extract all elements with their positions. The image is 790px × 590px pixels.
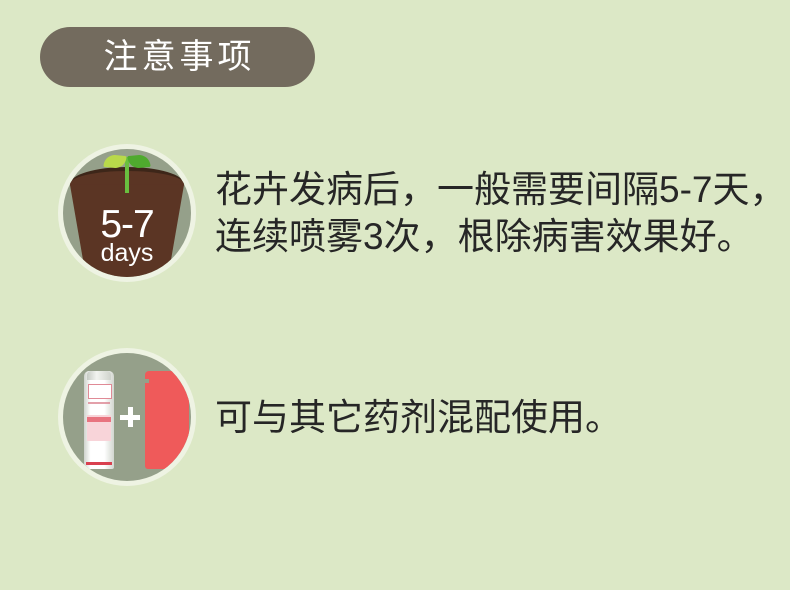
- white-bottle-base-stripe: [86, 462, 112, 465]
- notice-text-2: 可与其它药剂混配使用。: [215, 399, 622, 436]
- mix-bottles-icon: [58, 348, 196, 486]
- notice-item-1: 5-7 days 花卉发病后，一般需要间隔5-7天， 连续喷雾3次，根除病害效果…: [58, 144, 786, 282]
- white-bottle-label-line: [88, 402, 110, 404]
- white-bottle-label-block: [87, 415, 111, 441]
- white-bottle-label-band: [87, 417, 111, 422]
- section-header-pill: 注意事项: [40, 27, 315, 87]
- white-bottle-label-box: [88, 384, 112, 399]
- red-bottle-neck-right: [185, 379, 189, 383]
- white-bottle-cap: [87, 371, 111, 380]
- plant-pot-icon-background: 5-7 days: [63, 149, 191, 277]
- duration-unit: days: [63, 241, 191, 266]
- bottles-group: [63, 353, 191, 481]
- notice-item-2: 可与其它药剂混配使用。: [58, 348, 622, 486]
- red-bottle-neck-left: [145, 379, 149, 383]
- pot-duration-label: 5-7 days: [63, 205, 191, 266]
- plus-icon: [120, 407, 140, 427]
- white-bottle-icon: [84, 371, 114, 469]
- page-title: 注意事项: [100, 40, 256, 74]
- plant-pot-icon: 5-7 days: [58, 144, 196, 282]
- notice-text-1: 花卉发病后，一般需要间隔5-7天， 连续喷雾3次，根除病害效果好。: [215, 166, 786, 260]
- notice-page: { "page": { "background_color": "#dce8c6…: [0, 0, 790, 590]
- mix-bottles-icon-background: [63, 353, 191, 481]
- red-bottle-icon: [145, 371, 189, 469]
